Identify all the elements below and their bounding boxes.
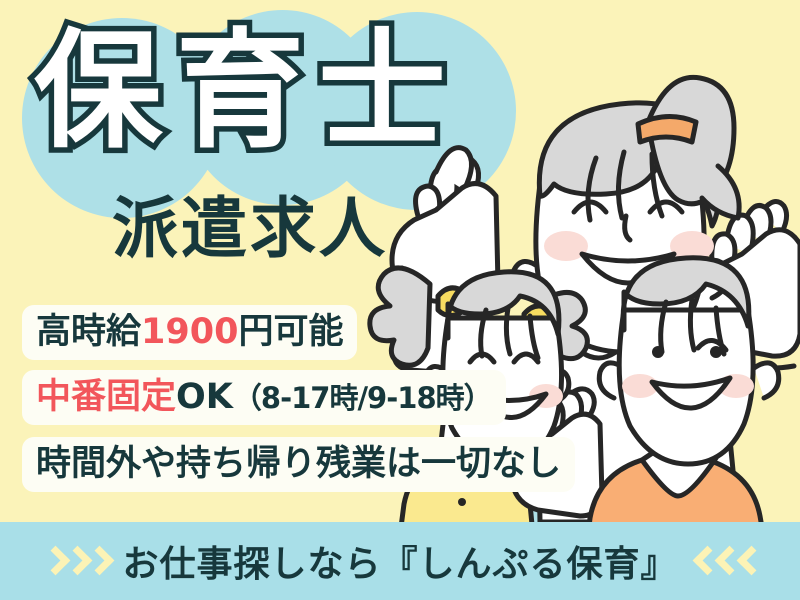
chevrons-right-icon — [43, 546, 104, 576]
feature-pill-wage: 高時給1900円可能 — [22, 305, 357, 360]
page-title: 保育士 — [34, 28, 460, 156]
feature-pill-overtime: 時間外や持ち帰り残業は一切なし — [22, 437, 575, 492]
teacher-right-arm — [691, 202, 800, 369]
feature-shift-text: 中番固定OK（8-17時/9-18時） — [36, 380, 492, 415]
teacher-head — [513, 77, 740, 352]
feature-overtime-text: 時間外や持ち帰り残業は一切なし — [36, 447, 561, 482]
feature-wage-text: 高時給1900円可能 — [36, 315, 343, 350]
job-advertisement-banner: 保育士 派遣求人 高時給1900円可能 中番固定OK（8-17時/9-18時） … — [0, 0, 800, 600]
cta-text: お仕事探しなら『しんぷる保育』 — [122, 535, 677, 587]
chevrons-left-icon — [696, 546, 757, 576]
teacher-apron — [510, 334, 704, 522]
teacher-body — [432, 330, 738, 522]
feature-pill-shift: 中番固定OK（8-17時/9-18時） — [22, 370, 506, 425]
page-subtitle: 派遣求人 — [112, 196, 388, 262]
bottom-cta-band: お仕事探しなら『しんぷる保育』 — [0, 522, 800, 600]
